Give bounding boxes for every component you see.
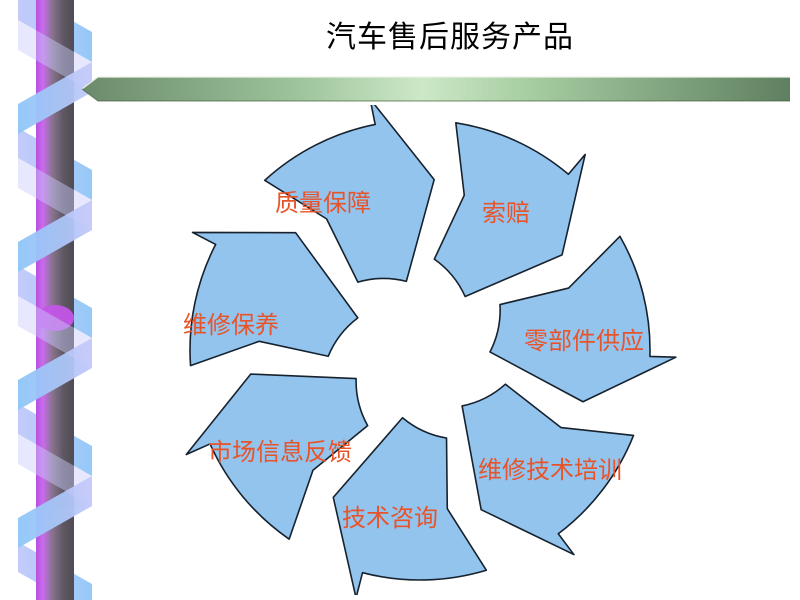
green-arrow-bar: [82, 74, 790, 104]
cycle-segment-parts-supply[interactable]: [434, 123, 585, 297]
cycle-segment-quality-assurance[interactable]: [190, 232, 358, 365]
cycle-segment-technical-consultation[interactable]: [462, 384, 633, 554]
cycle-hub: [352, 282, 488, 418]
arrow-bar-body: [82, 77, 790, 101]
green-arrow-bar-svg: [82, 74, 790, 104]
slide-canvas: 汽车售后服务产品 质量保障 索赔 零部件供应 维修技术培训: [0, 0, 800, 600]
page-title: 汽车售后服务产品: [110, 18, 790, 58]
cycle-diagram-svg: [160, 105, 680, 595]
cycle-segment-market-feedback[interactable]: [333, 418, 486, 595]
cycle-diagram: 质量保障 索赔 零部件供应 维修技术培训 技术咨询 市场信息反馈 维修保养: [160, 105, 680, 595]
